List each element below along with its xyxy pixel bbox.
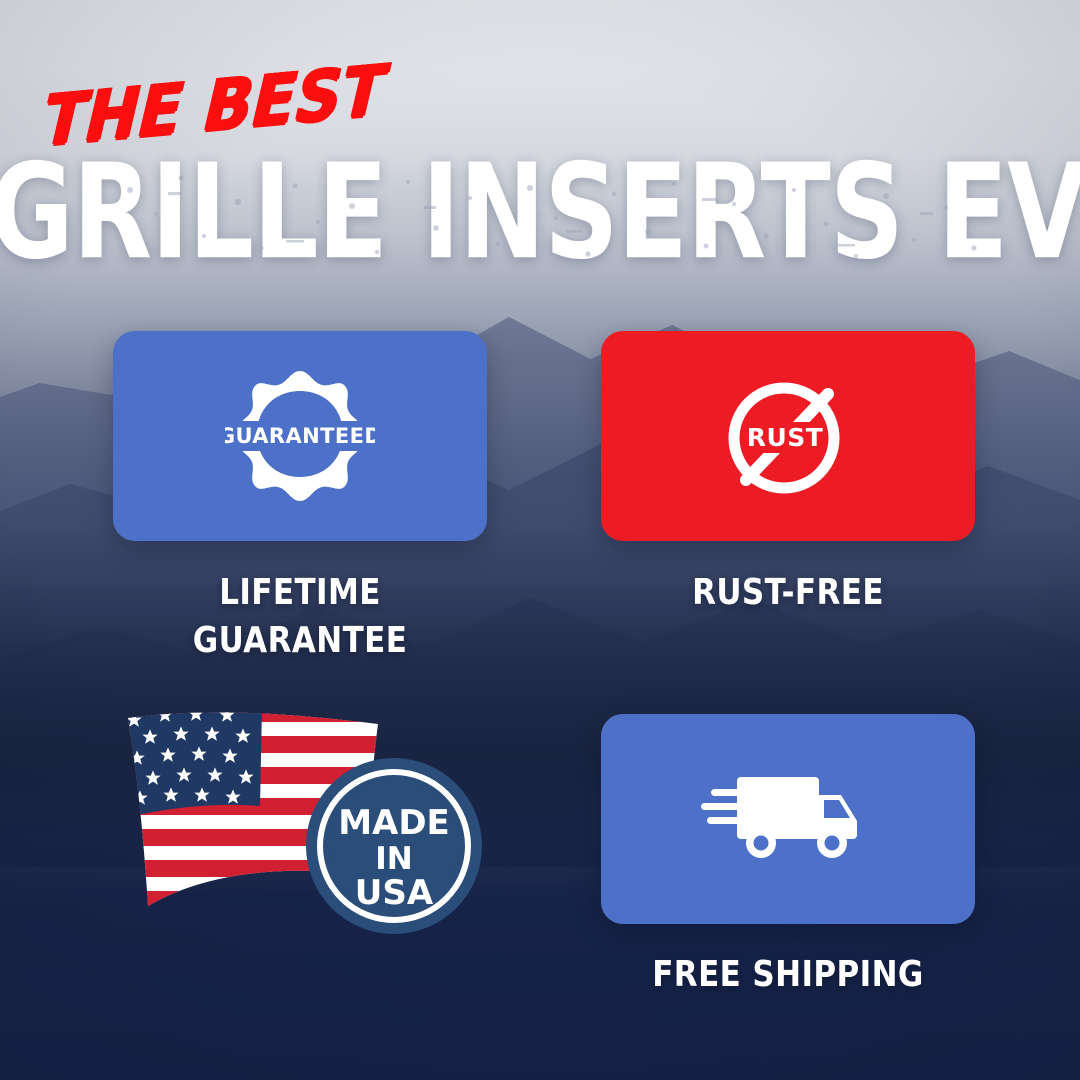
caption-line: FREE SHIPPING: [601, 952, 975, 999]
badge-line-made: MADE: [338, 803, 450, 843]
delivery-truck-icon: [693, 759, 883, 879]
feature-caption-rust-free: RUST-FREE: [601, 570, 975, 617]
no-rust-icon: RUST: [710, 358, 866, 514]
caption-line: LIFETIME: [113, 570, 487, 617]
feature-caption-lifetime-guarantee: LIFETIME GUARANTEE: [113, 570, 487, 665]
feature-card-free-shipping[interactable]: [601, 714, 975, 924]
page-title: GRILLE INSERTS EVER!: [0, 148, 1080, 277]
feature-card-rust-free[interactable]: RUST: [601, 331, 975, 541]
promo-graphic: THE BEST GRILLE INSERTS EVER!: [0, 0, 1080, 1080]
badge-line-usa: USA: [355, 873, 434, 913]
badge-line-in: IN: [375, 841, 412, 877]
no-rust-label: RUST: [747, 423, 824, 452]
feature-card-lifetime-guarantee[interactable]: GUARANTEED: [113, 331, 487, 541]
guarantee-seal-label: GUARANTEED: [225, 424, 375, 448]
guarantee-seal-icon: GUARANTEED: [225, 361, 375, 511]
caption-line: GUARANTEE: [113, 617, 487, 664]
caption-line: RUST-FREE: [601, 570, 975, 617]
feature-caption-free-shipping: FREE SHIPPING: [601, 952, 975, 999]
made-in-usa-badge[interactable]: MADE IN USA: [302, 754, 487, 939]
feature-made-in-usa[interactable]: MADE IN USA: [110, 706, 490, 941]
